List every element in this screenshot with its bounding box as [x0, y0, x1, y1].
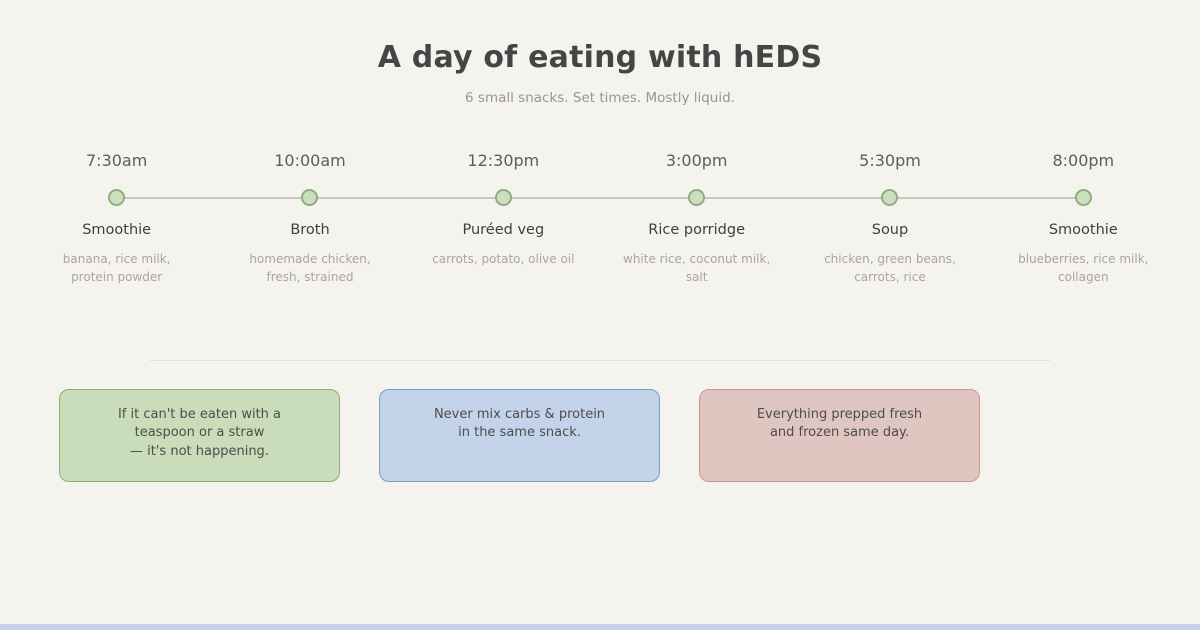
page-header: A day of eating with hEDS 6 small snacks…	[0, 0, 1200, 106]
node-time: 5:30pm	[859, 152, 921, 172]
node-label: Rice porridge	[648, 223, 745, 239]
node-description: banana, rice milk, protein powder	[42, 250, 192, 286]
rule-card-text: Never mix carbs & protein in the same sn…	[434, 406, 605, 481]
node-time: 8:00pm	[1052, 152, 1114, 172]
timeline-node[interactable]: 3:00pm Rice porridge white rice, coconut…	[600, 152, 793, 286]
node-time: 3:00pm	[666, 152, 728, 172]
node-time: 7:30am	[86, 152, 147, 172]
rule-card-blue[interactable]: Never mix carbs & protein in the same sn…	[379, 389, 660, 482]
node-label: Soup	[872, 223, 908, 239]
timeline-dot-icon	[688, 189, 705, 206]
timeline-dot-icon	[1075, 189, 1092, 206]
rule-card-text: If it can't be eaten with a teaspoon or …	[118, 406, 281, 481]
node-description: chicken, green beans, carrots, rice	[815, 250, 965, 286]
node-description: homemade chicken, fresh, strained	[235, 250, 385, 286]
timeline-dot-icon	[108, 189, 125, 206]
timeline-dot-icon	[301, 189, 318, 206]
rules-card-list: If it can't be eaten with a teaspoon or …	[59, 389, 980, 482]
bottom-accent-bar	[0, 624, 1200, 630]
node-label: Puréed veg	[462, 223, 544, 239]
page-title: A day of eating with hEDS	[0, 40, 1200, 76]
node-time: 10:00am	[274, 152, 346, 172]
section-divider	[150, 360, 1050, 361]
node-label: Smoothie	[82, 223, 151, 239]
node-description: blueberries, rice milk, collagen	[1008, 250, 1158, 286]
node-label: Smoothie	[1049, 223, 1118, 239]
node-time: 12:30pm	[467, 152, 539, 172]
timeline-node-list: 7:30am Smoothie banana, rice milk, prote…	[20, 152, 1180, 286]
rule-card-green[interactable]: If it can't be eaten with a teaspoon or …	[59, 389, 340, 482]
page-subtitle: 6 small snacks. Set times. Mostly liquid…	[0, 90, 1200, 106]
timeline-node[interactable]: 5:30pm Soup chicken, green beans, carrot…	[793, 152, 986, 286]
timeline-node[interactable]: 12:30pm Puréed veg carrots, potato, oliv…	[407, 152, 600, 286]
rule-card-text: Everything prepped fresh and frozen same…	[757, 406, 922, 481]
timeline-dot-icon	[881, 189, 898, 206]
timeline-node[interactable]: 8:00pm Smoothie blueberries, rice milk, …	[987, 152, 1180, 286]
node-description: white rice, coconut milk, salt	[622, 250, 772, 286]
meal-timeline: 7:30am Smoothie banana, rice milk, prote…	[0, 152, 1200, 292]
timeline-node[interactable]: 7:30am Smoothie banana, rice milk, prote…	[20, 152, 213, 286]
node-label: Broth	[290, 223, 329, 239]
timeline-dot-icon	[495, 189, 512, 206]
timeline-node[interactable]: 10:00am Broth homemade chicken, fresh, s…	[213, 152, 406, 286]
node-description: carrots, potato, olive oil	[432, 250, 574, 268]
rule-card-pink[interactable]: Everything prepped fresh and frozen same…	[699, 389, 980, 482]
